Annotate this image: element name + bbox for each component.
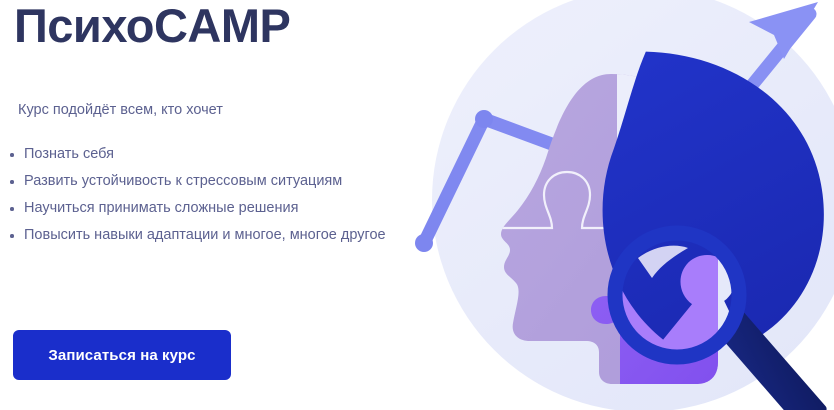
hero-lede: Курс подойдёт всем, кто хочет bbox=[18, 100, 223, 120]
benefits-list: Познать себя Развить устойчивость к стре… bbox=[8, 145, 386, 253]
list-item: Познать себя bbox=[8, 145, 386, 164]
list-item: Развить устойчивость к стрессовым ситуац… bbox=[8, 172, 386, 191]
hero-illustration bbox=[406, 0, 834, 410]
hero-banner: ПсихоCAMP Курс подойдёт всем, кто хочет … bbox=[0, 0, 834, 410]
hero-copy: ПсихоCAMP Курс подойдёт всем, кто хочет … bbox=[0, 0, 430, 410]
list-item: Научиться принимать сложные решения bbox=[8, 199, 386, 218]
page-title: ПсихоCAMP bbox=[14, 0, 290, 54]
list-item: Повысить навыки адаптации и многое, мног… bbox=[8, 226, 386, 245]
enroll-button[interactable]: Записаться на курс bbox=[13, 330, 231, 380]
